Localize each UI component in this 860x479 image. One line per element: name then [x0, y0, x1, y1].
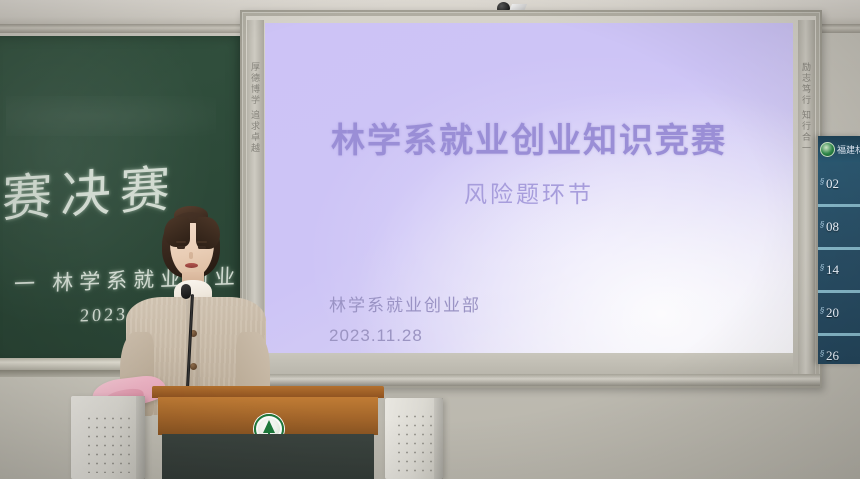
speaker-grille-icon [85, 414, 131, 473]
microphone-icon [181, 284, 191, 299]
speaker-edge [434, 398, 443, 479]
calendar-rows: § 02 § 08 § 14 § 20 § 26 [818, 164, 860, 364]
presenter-fringe-right [196, 217, 220, 249]
calendar-brand-text: 福建林 [837, 143, 860, 156]
calendar-tick-icon: § [820, 220, 824, 229]
projection-screen: 林学系就业创业知识竞赛 风险题环节 林学系就业创业部 2023.11.28 [265, 23, 793, 353]
calendar-tick-icon: § [820, 263, 824, 272]
presenter-eye-right [198, 246, 206, 249]
calendar-row: § 08 [818, 207, 860, 250]
speaker-right [385, 398, 443, 479]
slide-subtitle: 风险题环节 [265, 175, 793, 209]
presenter-eye-left [177, 246, 185, 249]
calendar-header: 福建林 [818, 136, 860, 162]
classroom-scene: 赛决赛 一 林学系就业创业部 2023.11. 厚德博学 追求卓越 励志笃行 知… [0, 0, 860, 479]
speaker-edge [136, 396, 145, 479]
presenter-mouth [185, 263, 198, 268]
calendar-row: § 26 [818, 336, 860, 364]
presenter-eyebrow-right [197, 241, 207, 243]
screen-bottom-bezel [265, 353, 793, 375]
wall-calendar: 福建林 § 02 § 08 § 14 § 20 § 26 [816, 136, 860, 364]
calendar-tick-icon: § [820, 306, 824, 315]
slide-date: 2023.11.28 [329, 326, 423, 346]
slide-organization: 林学系就业创业部 [329, 291, 481, 316]
presenter-nose [189, 252, 193, 259]
calendar-tick-icon: § [820, 349, 824, 358]
chalk-smudge [6, 96, 216, 136]
whiteboard-assembly: 厚德博学 追求卓越 励志笃行 知行合一 林学系就业创业知识竞赛 风险题环节 林学… [240, 10, 822, 388]
lectern-base [162, 434, 374, 479]
calendar-row: § 14 [818, 250, 860, 293]
right-slogan-text: 励志笃行 知行合一 [800, 62, 813, 154]
speaker-grille-icon [395, 412, 433, 473]
speaker-left [71, 396, 145, 479]
presenter-button [190, 363, 197, 370]
slide-title: 林学系就业创业知识竞赛 [265, 113, 793, 162]
lectern-front-panel [158, 397, 378, 435]
calendar-row: § 02 [818, 164, 860, 207]
right-slogan-strip: 励志笃行 知行合一 [798, 20, 815, 376]
lectern [152, 386, 384, 479]
calendar-row: § 20 [818, 293, 860, 336]
whiteboard-bottom-rail [242, 374, 820, 386]
presenter-eyebrow-left [176, 241, 186, 243]
calendar-tick-icon: § [820, 177, 824, 186]
university-seal-icon [820, 142, 835, 157]
left-slogan-text: 厚德博学 追求卓越 [249, 62, 262, 154]
